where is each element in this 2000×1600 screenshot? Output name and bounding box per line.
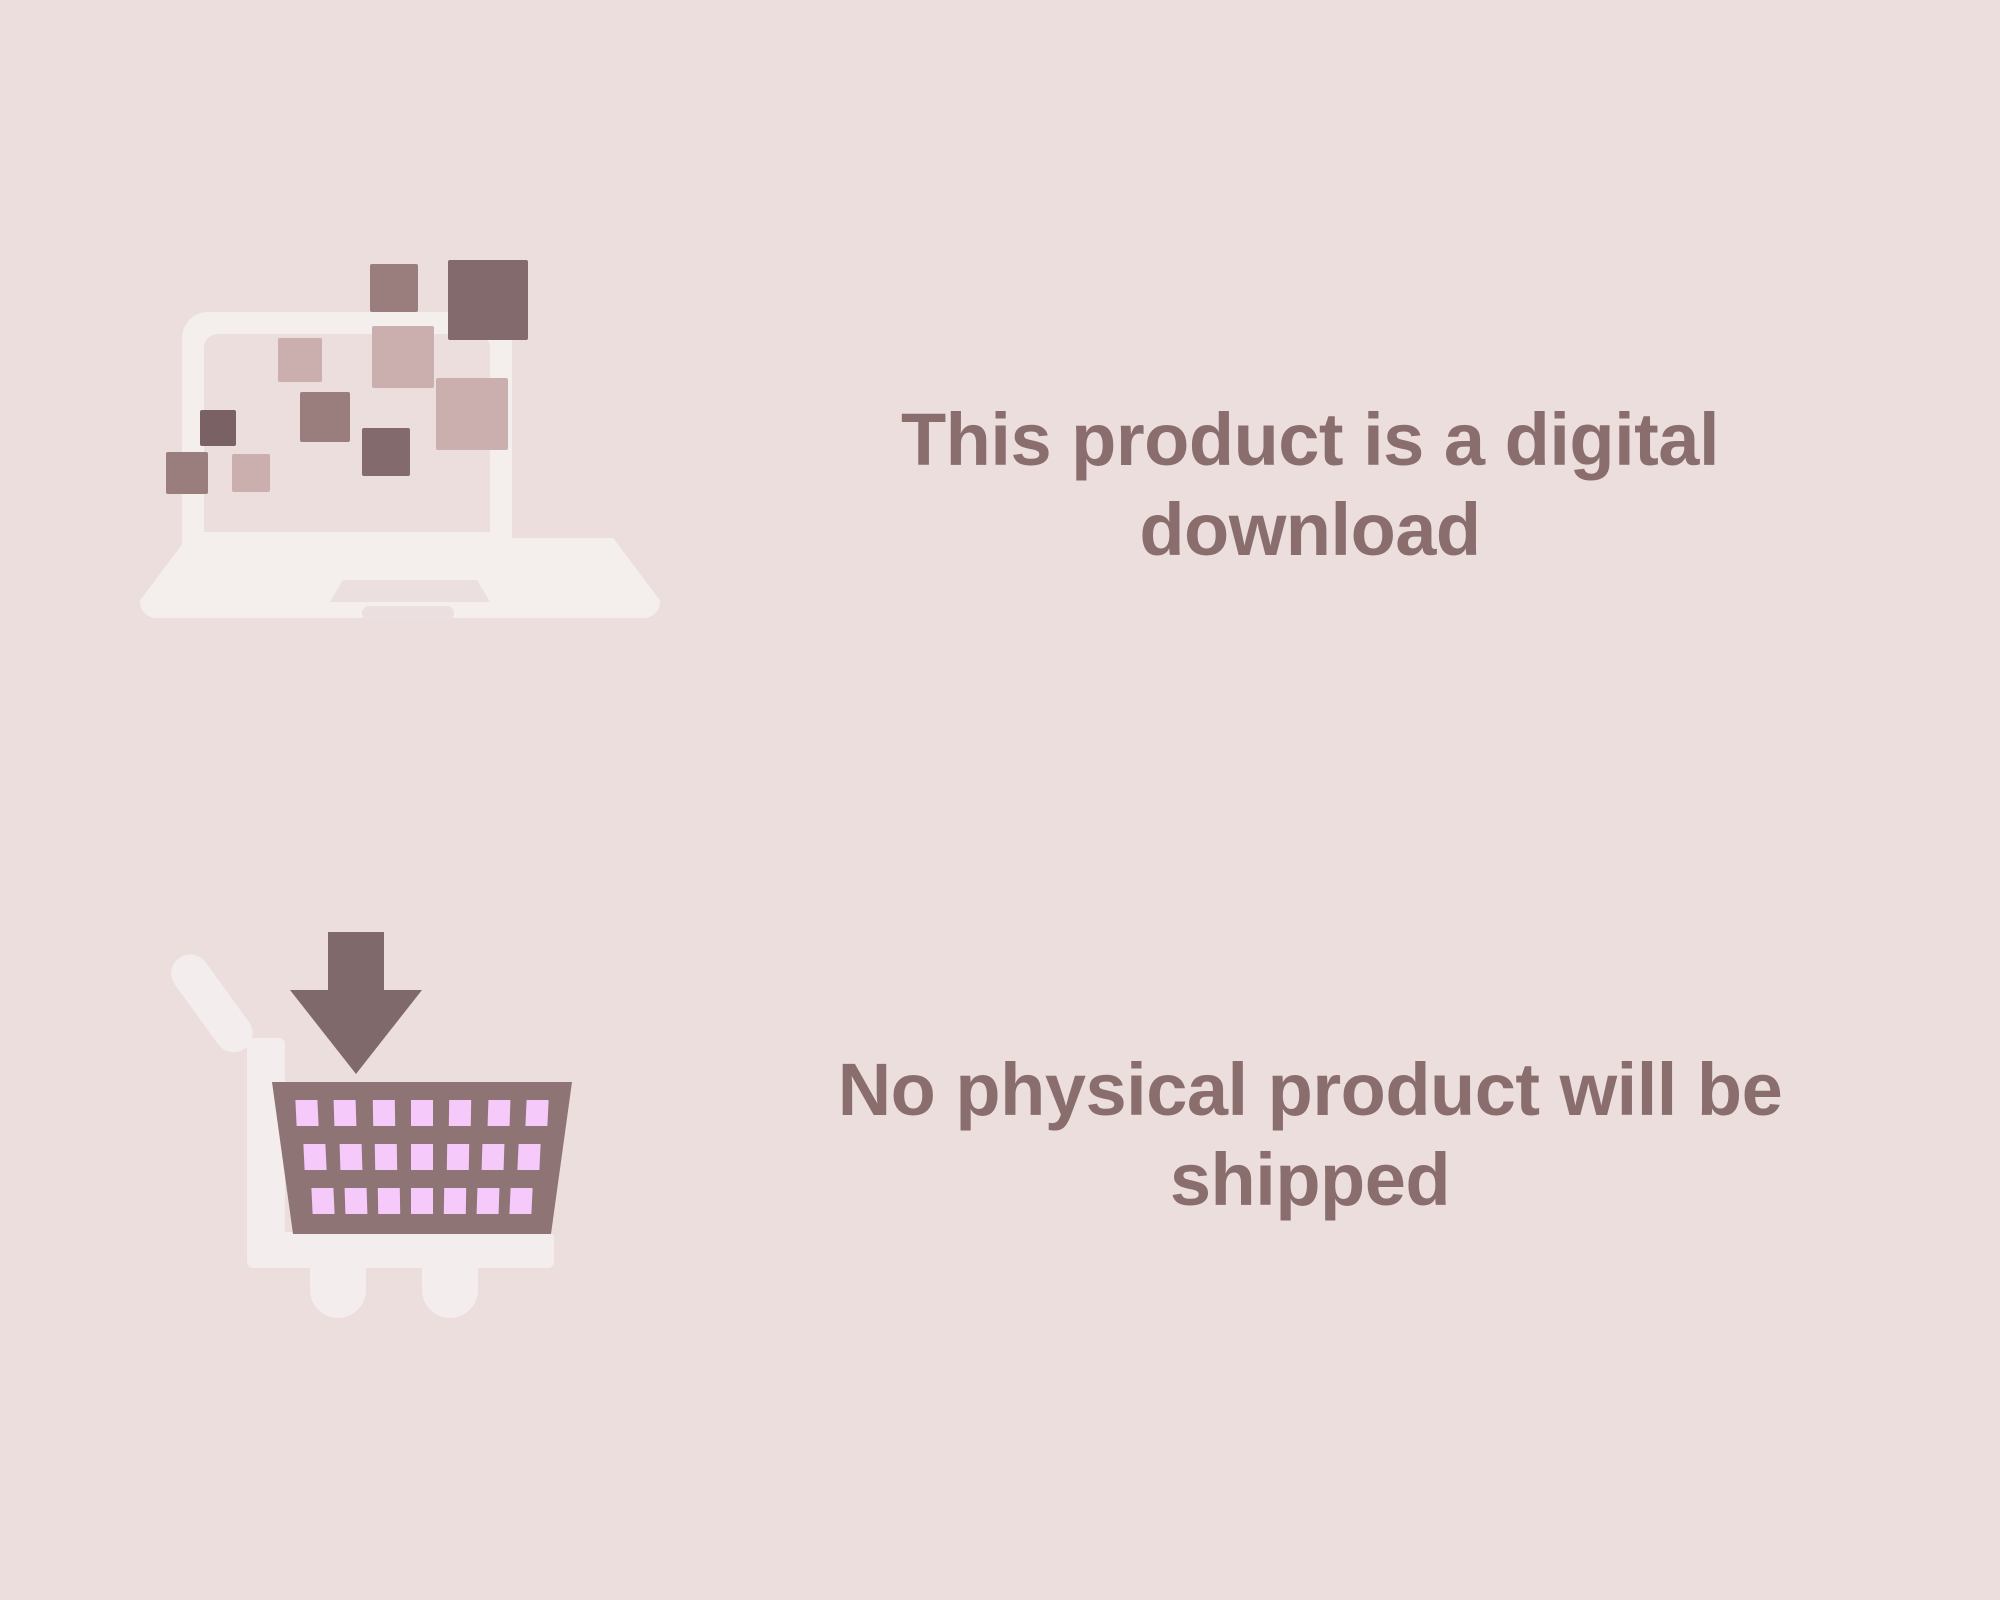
cart-basket: [272, 1082, 572, 1234]
cart-basket-hole: [444, 1188, 466, 1214]
feature-row-digital-download: This product is a digital download: [0, 250, 2000, 720]
cart-basket-hole: [477, 1188, 500, 1214]
mosaic-tile: [362, 428, 410, 476]
laptop-trackpad: [330, 580, 490, 602]
cart-basket-hole: [411, 1100, 433, 1126]
mosaic-tile: [436, 378, 508, 450]
cart-basket-hole: [303, 1144, 326, 1170]
cart-wheel-right: [422, 1262, 478, 1318]
download-arrow-head-icon: [290, 990, 422, 1074]
cart-basket-hole: [482, 1144, 505, 1170]
promo-graphic-canvas: This product is a digital download No ph…: [0, 0, 2000, 1600]
cart-handle: [164, 947, 261, 1060]
cart-basket-hole: [334, 1100, 357, 1126]
mosaic-tile: [372, 326, 434, 388]
mosaic-tile: [166, 452, 208, 494]
no-shipping-text-cell: No physical product will be shipped: [760, 1045, 2000, 1226]
digital-download-label: This product is a digital download: [760, 395, 1860, 576]
cart-basket-hole: [339, 1144, 362, 1170]
pixel-mosaic-icon: [140, 250, 620, 510]
cart-basket-hole: [449, 1100, 471, 1126]
cart-basket-hole: [510, 1188, 533, 1214]
mosaic-tile: [448, 260, 528, 340]
cart-basket-hole: [378, 1188, 400, 1214]
cart-icon-cell: [0, 900, 760, 1370]
cart-bottom-bar: [254, 1232, 554, 1268]
mosaic-tile: [278, 338, 322, 382]
cart-basket-hole: [411, 1188, 433, 1214]
cart-basket-hole: [372, 1100, 394, 1126]
mosaic-tile: [370, 264, 418, 312]
download-arrow-stem-icon: [328, 932, 384, 994]
laptop-front-lip: [362, 606, 454, 620]
no-shipping-label: No physical product will be shipped: [760, 1045, 1860, 1226]
feature-row-no-shipping: No physical product will be shipped: [0, 900, 2000, 1370]
cart-wheel-left: [310, 1262, 366, 1318]
cart-basket-hole: [296, 1100, 319, 1126]
cart-basket-hole: [487, 1100, 510, 1126]
cart-basket-hole: [446, 1144, 468, 1170]
cart-basket-hole: [411, 1144, 433, 1170]
cart-basket-hole: [375, 1144, 397, 1170]
cart-basket-hole: [311, 1188, 334, 1214]
cart-basket-hole: [525, 1100, 548, 1126]
digital-download-text-cell: This product is a digital download: [760, 395, 2000, 576]
mosaic-tile: [300, 392, 350, 442]
shopping-cart-download-icon: [150, 910, 650, 1360]
cart-basket-hole: [344, 1188, 367, 1214]
cart-basket-hole: [518, 1144, 541, 1170]
mosaic-tile: [200, 410, 236, 446]
mosaic-tile: [232, 454, 270, 492]
laptop-icon-cell: [0, 250, 760, 720]
